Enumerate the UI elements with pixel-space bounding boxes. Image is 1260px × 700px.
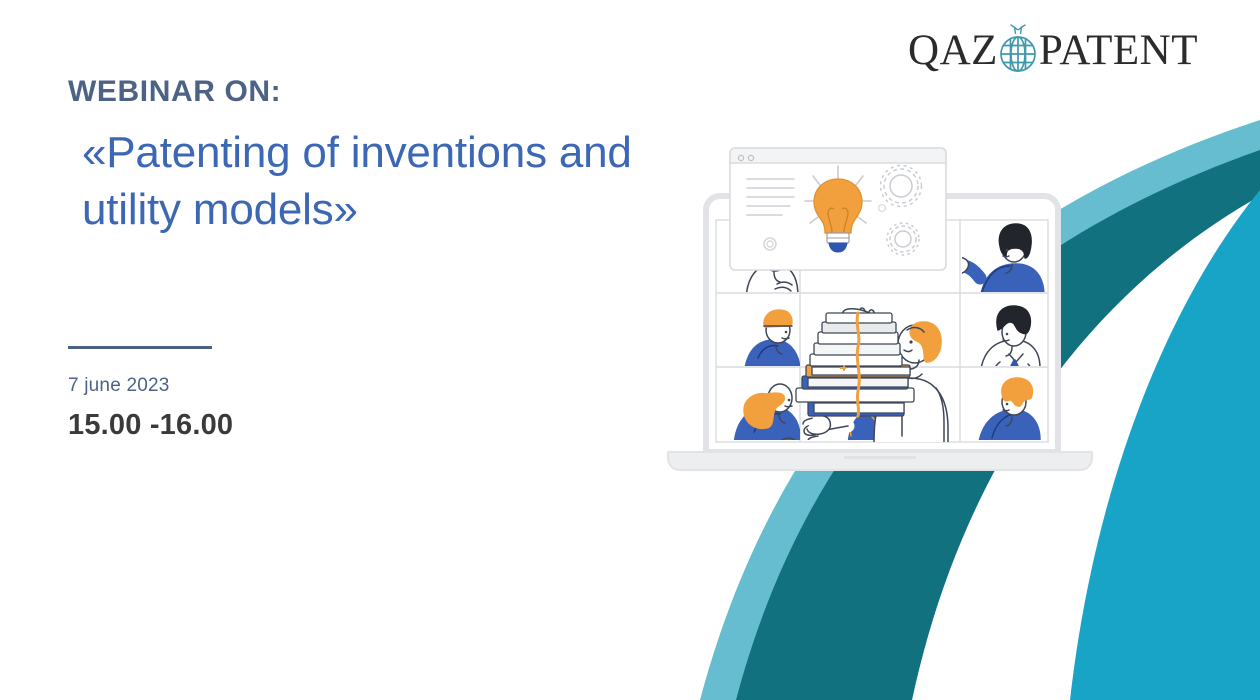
webinar-announcement-poster: QAZ PATENT WEBINAR ON: «Patenting of inv… (0, 0, 1260, 700)
divider (68, 346, 212, 349)
laptop-trackpad-notch (844, 456, 916, 459)
card-titlebar (730, 148, 946, 163)
schedule-block: 7 june 2023 15.00 -16.00 (68, 346, 233, 442)
globe-emblem-icon (995, 24, 1041, 76)
webinar-eyebrow-label: WEBINAR ON: (68, 74, 688, 110)
laptop-base (668, 452, 1092, 470)
online-webinar-illustration (662, 126, 1118, 502)
floating-browser-card (730, 148, 946, 270)
headline-block: WEBINAR ON: «Patenting of inventions and… (68, 74, 688, 238)
book-tie-string (857, 313, 859, 416)
logo-text-patent: PATENT (1039, 29, 1198, 72)
event-time: 15.00 -16.00 (68, 409, 233, 442)
qazpatent-logo: QAZ PATENT (908, 24, 1198, 76)
event-date: 7 june 2023 (68, 375, 233, 397)
page-title: «Patenting of inventions and utility mod… (68, 124, 688, 238)
logo-text-qaz: QAZ (908, 29, 998, 72)
